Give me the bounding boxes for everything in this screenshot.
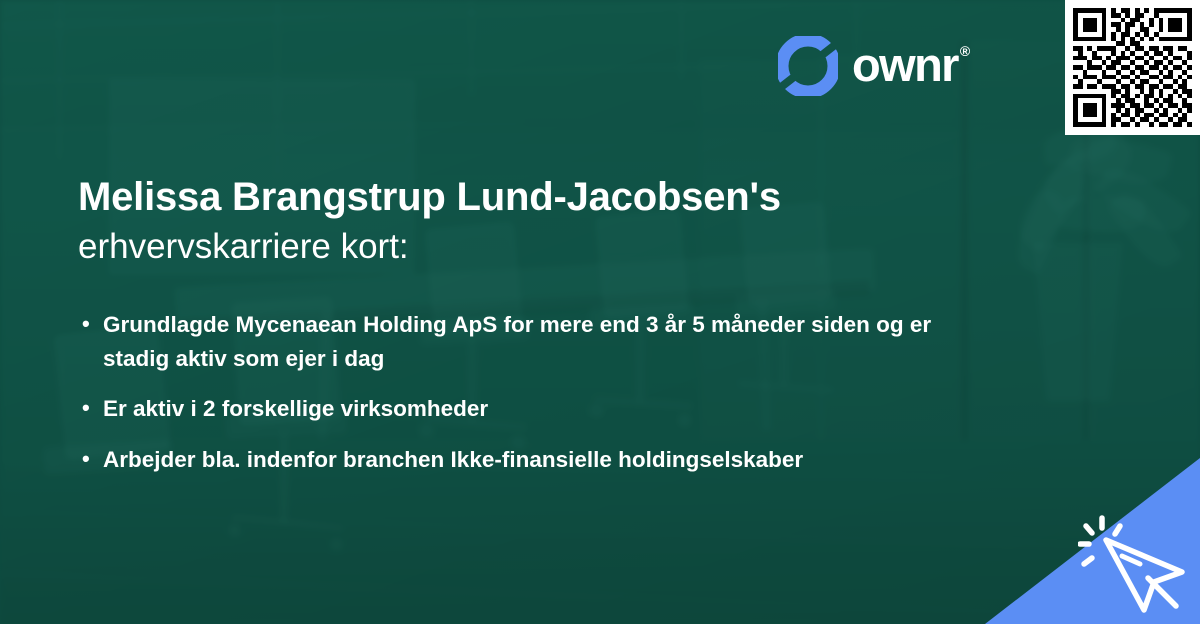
qr-code[interactable]	[1065, 0, 1200, 135]
page-title: Melissa Brangstrup Lund-Jacobsen's erhve…	[78, 175, 958, 266]
business-career-card: ownr® Melissa Brangstrup Lund-Jacobsen's…	[0, 0, 1200, 624]
page-title-line-2: erhvervskarriere kort:	[78, 227, 958, 267]
list-item: Er aktiv i 2 forskellige virksomheder	[80, 392, 980, 426]
registered-trademark-symbol: ®	[960, 43, 970, 59]
career-facts-list: Grundlagde Mycenaean Holding ApS for mer…	[80, 308, 980, 493]
qr-code-modules	[1073, 8, 1192, 127]
ownr-logomark-icon	[778, 36, 838, 96]
list-item: Grundlagde Mycenaean Holding ApS for mer…	[80, 308, 980, 376]
page-title-line-1: Melissa Brangstrup Lund-Jacobsen's	[78, 175, 958, 221]
ownr-wordmark: ownr®	[852, 41, 968, 88]
ownr-logo[interactable]: ownr®	[778, 36, 968, 96]
list-item: Arbejder bla. indenfor branchen Ikke-fin…	[80, 443, 980, 477]
